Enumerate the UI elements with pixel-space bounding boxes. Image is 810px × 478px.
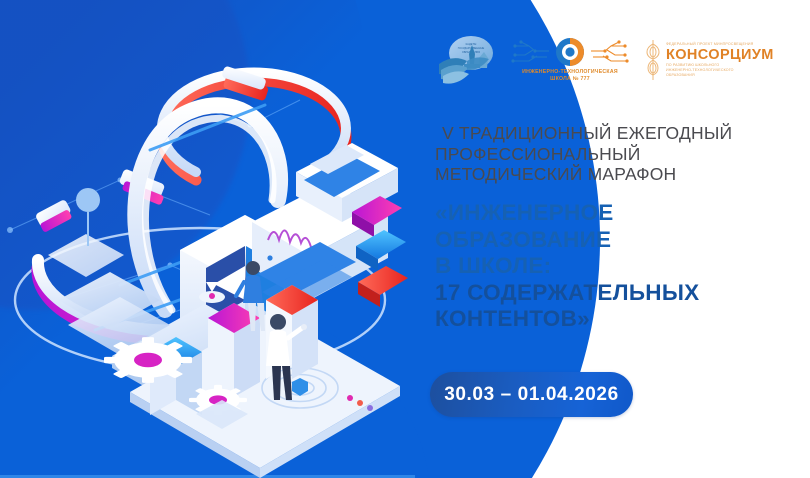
headline-line-3: МЕТОДИЧЕСКИЙ МАРАФОН xyxy=(435,164,807,185)
engineering-technology-school-logo: ИНЖЕНЕРНО-ТЕХНОЛОГИЧЕСКАЯ ШКОЛА № 777 xyxy=(511,34,629,86)
poster-content: КАДЕТЫ ГОСУДАРСТВЕННЫЕ ОБРАЗОВАНИЯ xyxy=(405,0,810,478)
event-headline: V ТРАДИЦИОННЫЙ ЕЖЕГОДНЫЙ ПРОФЕССИОНАЛЬНЫ… xyxy=(435,123,807,185)
title-line-5: КОНТЕНТОВ» xyxy=(435,306,810,333)
isometric-engineering-education-illustration xyxy=(0,0,430,478)
school-logo-line2: ШКОЛА № 777 xyxy=(550,76,590,83)
headline-line-1: V ТРАДИЦИОННЫЙ ЕЖЕГОДНЫЙ xyxy=(435,123,807,144)
gear-large xyxy=(104,337,192,383)
title-line-2: ОБРАЗОВАНИЕ xyxy=(435,227,810,254)
svg-text:КАДЕТЫ: КАДЕТЫ xyxy=(466,42,477,46)
page-title: «ИНЖЕНЕРНОЕ ОБРАЗОВАНИЕ В ШКОЛЕ: 17 СОДЕ… xyxy=(435,200,810,333)
consortium-main-text: КОНСОРЦИУМ xyxy=(666,47,774,63)
school-logo-line1: ИНЖЕНЕРНО-ТЕХНОЛОГИЧЕСКАЯ xyxy=(522,69,618,76)
school-emblem-logo: КАДЕТЫ ГОСУДАРСТВЕННЫЕ ОБРАЗОВАНИЯ xyxy=(435,34,497,86)
title-line-3: В ШКОЛЕ: xyxy=(435,253,810,280)
date-badge: 30.03 – 01.04.2026 xyxy=(430,372,633,417)
color-blocks-magenta-blue-red xyxy=(352,196,408,307)
promo-poster: КАДЕТЫ ГОСУДАРСТВЕННЫЕ ОБРАЗОВАНИЯ xyxy=(0,0,810,478)
consortium-logo: ФЕДЕРАЛЬНЫЙ ПРОЕКТ МИНПРОСВЕЩЕНИЯ КОНСОР… xyxy=(643,34,771,86)
logo-row: КАДЕТЫ ГОСУДАРСТВЕННЫЕ ОБРАЗОВАНИЯ xyxy=(435,30,795,90)
title-line-4: 17 СОДЕРЖАТЕЛЬНЫХ xyxy=(435,280,810,307)
headline-line-2: ПРОФЕССИОНАЛЬНЫЙ xyxy=(435,144,807,165)
title-line-1: «ИНЖЕНЕРНОЕ xyxy=(435,200,810,227)
consortium-bottom-line3: ОБРАЗОВАНИЯ xyxy=(666,73,774,78)
